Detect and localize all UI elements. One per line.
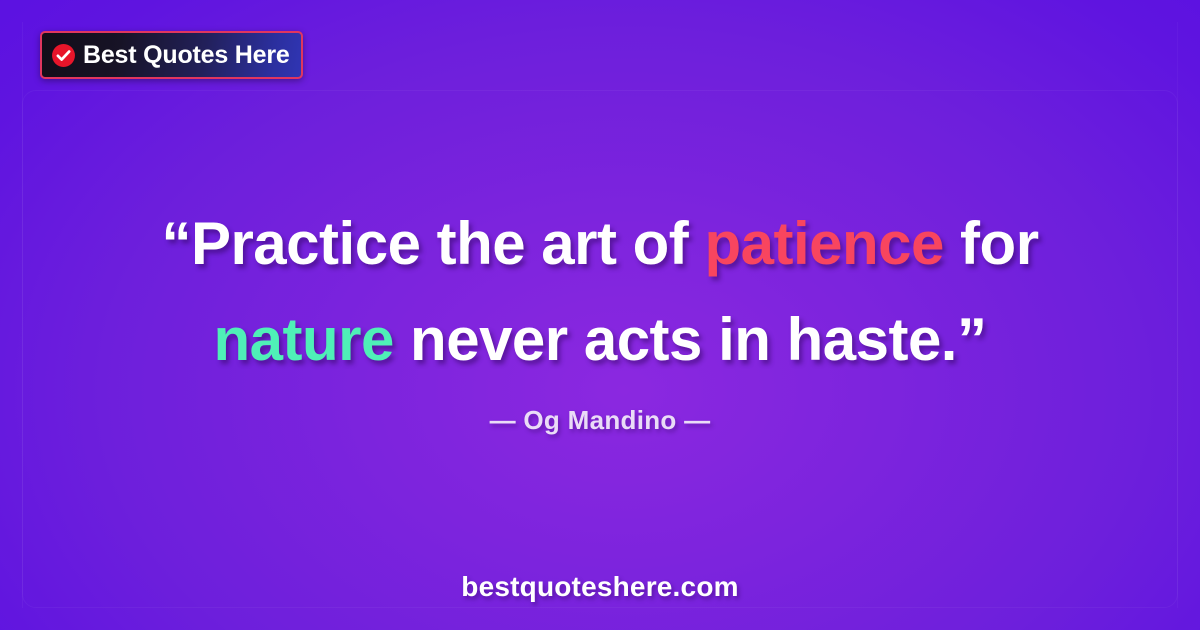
quote-highlight-patience: patience [704,210,943,277]
quote-segment: for [944,210,1039,277]
logo-badge[interactable]: Best Quotes Here [40,31,303,79]
quote-attribution: — Og Mandino — [0,405,1200,436]
footer-website-url[interactable]: bestquoteshere.com [0,571,1200,603]
quote-card: Best Quotes Here “Practice the art of pa… [0,0,1200,630]
quote-segment: “Practice the art of [161,210,704,277]
quote-line-2: nature never acts in haste.” [0,292,1200,388]
quote-text: “Practice the art of patience for nature… [0,196,1200,388]
check-circle-icon [51,43,76,68]
quote-highlight-nature: nature [214,306,394,373]
quote-segment: never acts in haste.” [394,306,987,373]
logo-text: Best Quotes Here [83,43,290,68]
quote-line-1: “Practice the art of patience for [0,196,1200,292]
